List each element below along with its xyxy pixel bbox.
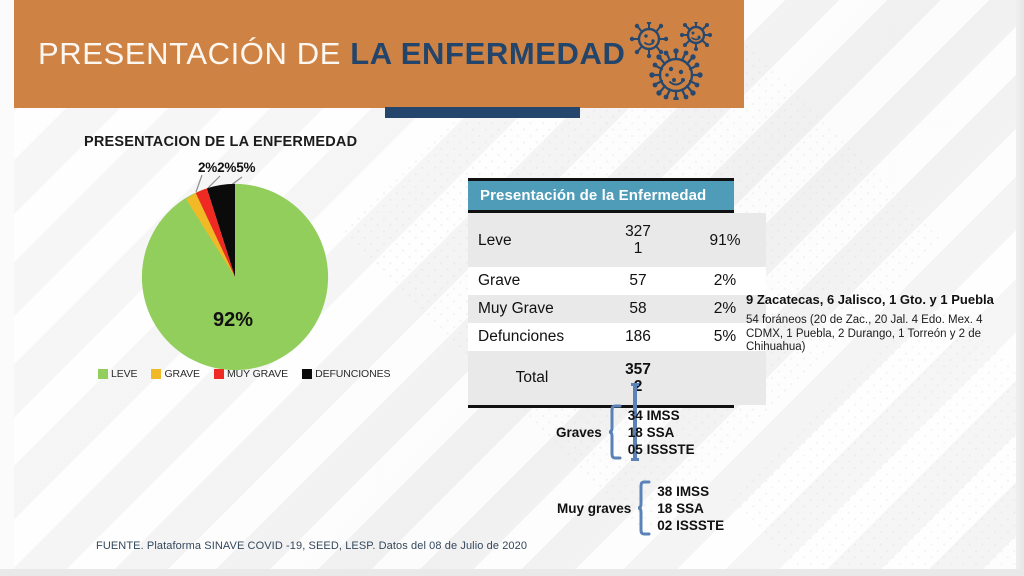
cell-value-muy-grave: 58 [592,295,684,323]
brace-icon [608,404,622,460]
annotation-graves-label: Graves [556,425,602,440]
table-header: Presentación de la Enfermedad [468,181,734,210]
side-note-heading: 9 Zacatecas, 6 Jalisco, 1 Gto. y 1 Puebl… [746,292,998,307]
virus-particles-icon [624,22,734,100]
legend-item-grave: GRAVE [151,368,199,380]
slide-right-edge [1016,0,1024,576]
legend-item-defunciones: DEFUNCIONES [302,368,390,380]
annotation-graves-line-2: 18 SSA [628,425,675,440]
legend-label-leve: LEVE [111,368,137,380]
cell-value-leve-line2: 1 [634,240,643,257]
annotation-graves: Graves 34 IMSS 18 SSA 05 ISSSTE [556,404,695,460]
header-accent-bar [385,107,580,118]
page-title: PRESENTACIÓN DE LA ENFERMEDAD [38,36,626,72]
footer-source: FUENTE. Plataforma SINAVE COVID -19, SEE… [96,540,527,552]
cell-value-leve: 327 1 [592,213,684,267]
page-title-light: PRESENTACIÓN DE [38,36,350,71]
annotation-muy-graves-line-2: 18 SSA [657,501,704,516]
annotation-graves-values: 34 IMSS 18 SSA 05 ISSSTE [628,407,695,458]
legend-item-muy-grave: MUY GRAVE [214,368,288,380]
cell-pct-grave: 2% [684,267,766,295]
table-total-row: Total 357 2 [468,351,766,405]
table-row: Grave 57 2% [468,267,766,295]
pie-center-value: 92% [213,309,253,332]
chart-title: PRESENTACION DE LA ENFERMEDAD [84,134,464,150]
chart-legend: LEVE GRAVE MUY GRAVE DEFUNCIONES [98,368,390,380]
legend-label-defunciones: DEFUNCIONES [315,368,390,380]
legend-swatch-leve [98,369,108,379]
cell-value-defunciones: 186 [592,323,684,351]
table-row: Leve 327 1 91% [468,213,766,267]
annotation-muy-graves-label: Muy graves [557,501,631,516]
page-title-bold: LA ENFERMEDAD [350,36,625,71]
legend-item-leve: LEVE [98,368,137,380]
cell-label-muy-grave: Muy Grave [468,295,592,323]
legend-label-muy-grave: MUY GRAVE [227,368,288,380]
cell-label-grave: Grave [468,267,592,295]
cell-value-total-line1: 357 [625,361,651,378]
legend-label-grave: GRAVE [164,368,199,380]
pie-chart [140,182,330,372]
presentation-table: Presentación de la Enfermedad Leve 327 1… [468,178,734,408]
slide-canvas: PRESENTACIÓN DE LA ENFERMEDAD [0,0,1024,576]
cell-pct-leve: 91% [684,213,766,267]
annotation-muy-graves-line-1: 38 IMSS [657,484,709,499]
cell-label-leve: Leve [468,213,592,267]
legend-swatch-muy-grave [214,369,224,379]
table-row: Muy Grave 58 2% [468,295,766,323]
slide-bottom-edge [0,569,1024,576]
table-row: Defunciones 186 5% [468,323,766,351]
cell-value-leve-line1: 327 [625,223,651,240]
legend-swatch-grave [151,369,161,379]
table-body: Leve 327 1 91% Grave 57 2% Muy Grave 58 … [468,213,766,405]
annotation-graves-line-3: 05 ISSSTE [628,442,695,457]
annotation-muy-graves-line-3: 02 ISSSTE [657,518,724,533]
annotation-muy-graves-values: 38 IMSS 18 SSA 02 ISSSTE [657,483,724,534]
pie-chart-block: PRESENTACION DE LA ENFERMEDAD 2%2%5% [78,134,468,389]
cell-label-total: Total [468,351,592,405]
legend-swatch-defunciones [302,369,312,379]
cell-pct-total [684,351,766,405]
slide-left-edge [0,0,14,576]
annotation-graves-line-1: 34 IMSS [628,408,680,423]
side-note-body: 54 foráneos (20 de Zac., 20 Jal. 4 Edo. … [746,314,998,355]
side-note: 9 Zacatecas, 6 Jalisco, 1 Gto. y 1 Puebl… [746,292,998,355]
cell-value-grave: 57 [592,267,684,295]
cell-label-defunciones: Defunciones [468,323,592,351]
annotation-muy-graves: Muy graves 38 IMSS 18 SSA 02 ISSSTE [557,480,724,536]
header-band: PRESENTACIÓN DE LA ENFERMEDAD [14,0,744,108]
brace-icon [637,480,651,536]
